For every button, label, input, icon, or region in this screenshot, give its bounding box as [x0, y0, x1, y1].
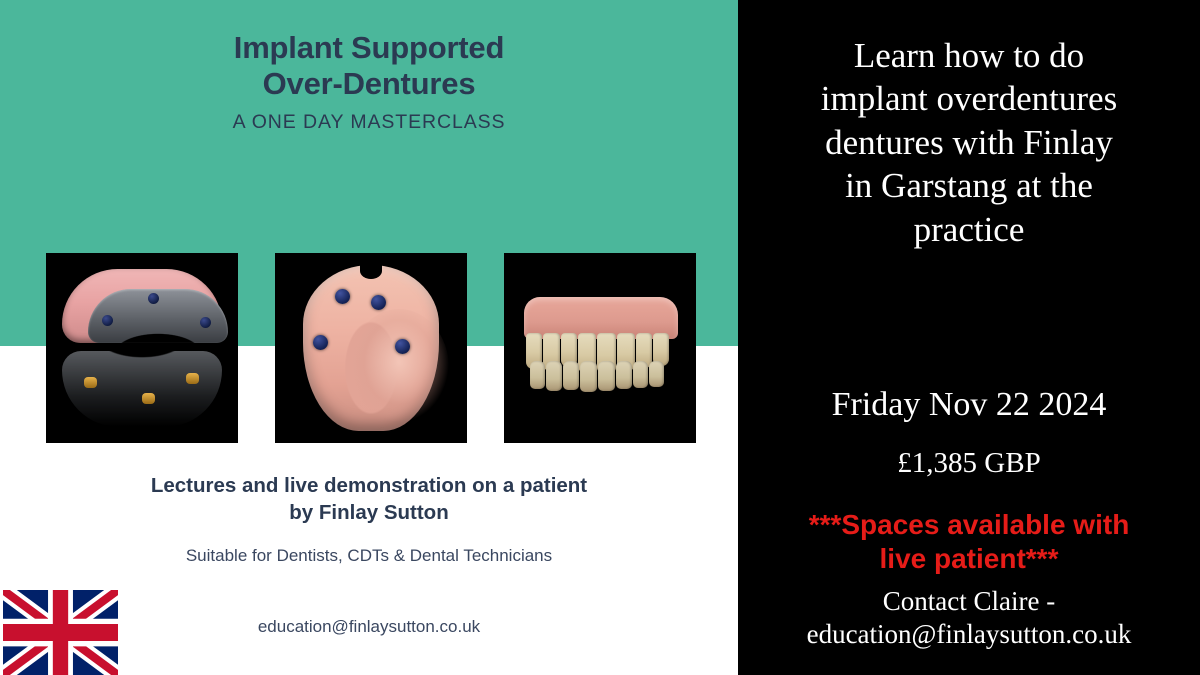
headline-line-1: Learn how to do	[752, 34, 1186, 77]
bar-screw-hole-3-icon	[200, 317, 211, 328]
photo-lower-bar-overdenture	[46, 253, 238, 443]
headline-line-3: dentures with Finlay	[752, 121, 1186, 164]
locator-attachment-4-icon	[395, 339, 410, 354]
gold-abutment-right-icon	[186, 373, 199, 384]
tooth	[633, 361, 648, 388]
gold-abutment-left-icon	[84, 377, 97, 388]
event-price: £1,385 GBP	[752, 447, 1186, 480]
headline-line-5: practice	[752, 208, 1186, 251]
poster-title-line-2: Over-Dentures	[0, 66, 738, 102]
bar-screw-hole-2-icon	[148, 293, 159, 304]
photo-dentures-in-occlusion	[504, 253, 696, 443]
locator-attachment-1-icon	[335, 289, 350, 304]
lower-copy-block: Lectures and live demonstration on a pat…	[0, 472, 738, 566]
event-date: Friday Nov 22 2024	[752, 385, 1186, 426]
locator-attachment-2-icon	[371, 295, 386, 310]
photo-upper-denture-locators	[275, 253, 467, 443]
locator-attachment-3-icon	[313, 335, 328, 350]
headline-line-4: in Garstang at the	[752, 164, 1186, 207]
labial-notch-shape	[360, 263, 382, 279]
alert-line-2: live patient***	[748, 542, 1190, 576]
tooth	[530, 361, 545, 389]
contact-block: Contact Claire - education@finlaysutton.…	[746, 585, 1192, 652]
audience-line: Suitable for Dentists, CDTs & Dental Tec…	[0, 546, 738, 566]
alert-line-1: ***Spaces available with	[748, 508, 1190, 542]
tooth	[546, 361, 562, 391]
contact-email[interactable]: education@finlaysutton.co.uk	[746, 618, 1192, 651]
title-block: Implant Supported Over-Dentures A ONE DA…	[0, 30, 738, 134]
tooth	[616, 361, 632, 389]
palate-surface-shape	[349, 309, 449, 427]
lecture-line-2: by Finlay Sutton	[0, 499, 738, 526]
bar-screw-hole-1-icon	[102, 315, 113, 326]
bar-reflection-shape	[62, 351, 222, 427]
spaces-available-alert: ***Spaces available with live patient***	[748, 508, 1190, 576]
gold-abutment-mid-icon	[142, 393, 155, 404]
poster-canvas: Implant Supported Over-Dentures A ONE DA…	[0, 0, 1200, 675]
milled-bar-shape	[88, 289, 228, 343]
united-kingdom-flag-icon	[3, 590, 118, 675]
photo-strip	[46, 253, 696, 443]
right-headline: Learn how to do implant overdentures den…	[752, 34, 1186, 251]
right-black-panel: Learn how to do implant overdentures den…	[738, 0, 1200, 675]
poster-title-line-1: Implant Supported	[0, 30, 738, 66]
tooth	[563, 361, 579, 390]
left-panel: Implant Supported Over-Dentures A ONE DA…	[0, 0, 738, 675]
headline-line-2: implant overdentures	[752, 77, 1186, 120]
tooth	[649, 361, 664, 387]
tooth	[598, 361, 615, 391]
poster-subtitle: A ONE DAY MASTERCLASS	[0, 111, 738, 134]
lower-tooth-row	[530, 361, 665, 392]
tooth	[580, 361, 597, 392]
denture-base-shape	[62, 269, 222, 343]
lecture-line-1: Lectures and live demonstration on a pat…	[0, 472, 738, 499]
contact-name-line: Contact Claire -	[746, 585, 1192, 618]
